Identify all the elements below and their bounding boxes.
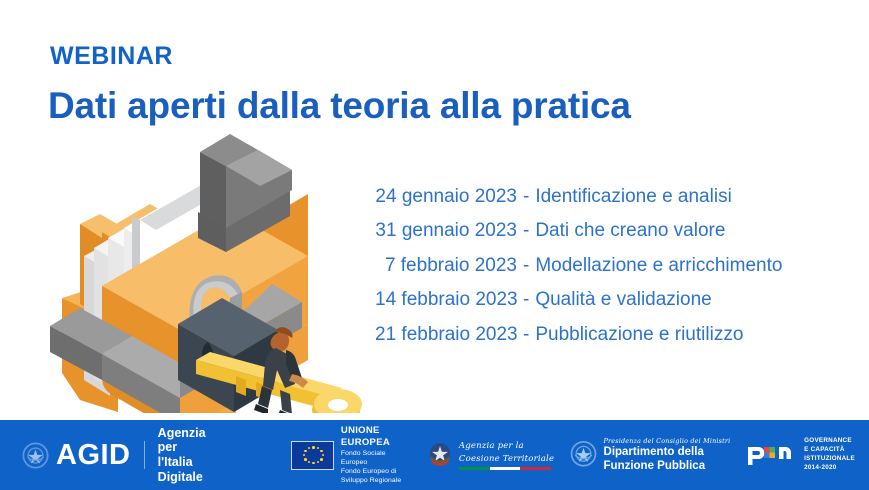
dfp-presidenza-line: Presidenza del Consiglio dei Ministri — [604, 437, 731, 445]
locked-folder-illustration — [40, 128, 370, 413]
dipartimento-funzione-pubblica-logo: Presidenza del Consiglio dei Ministri Di… — [569, 437, 731, 473]
session-separator: - — [517, 289, 535, 311]
coesione-line2: Coesione Territoriale — [459, 453, 554, 465]
agid-tagline-line2: l'Italia Digitale — [158, 455, 207, 485]
pon-line1: GOVERNANCE — [804, 437, 855, 446]
eu-line1: Fondo Sociale Europeo — [341, 449, 411, 467]
agid-tagline: Agenzia per l'Italia Digitale — [158, 426, 207, 485]
republic-emblem-icon — [569, 439, 598, 470]
footer-logo-bar: AGID Agenzia per l'Italia Digitale — [0, 420, 869, 490]
pon-line4: 2014-2020 — [804, 464, 855, 473]
eu-title: UNIONE EUROPEA — [341, 425, 411, 449]
agenzia-coesione-territoriale-logo: Agenzia per la Coesione Territoriale — [427, 440, 554, 469]
session-date: 24 gennaio 2023 — [375, 186, 517, 208]
pon-line2: E CAPACITÀ — [804, 446, 855, 455]
session-separator: - — [517, 255, 535, 277]
session-topic: Pubblicazione e riutilizzo — [535, 324, 743, 346]
session-topic: Modellazione e arricchimento — [535, 255, 782, 277]
pon-wordmark-icon — [746, 442, 798, 468]
eu-flag-icon — [291, 441, 334, 470]
session-date: 31 gennaio 2023 — [375, 220, 517, 242]
agid-divider — [144, 441, 145, 469]
pon-line3: ISTITUZIONALE — [804, 455, 855, 464]
dfp-line1: Dipartimento della — [604, 446, 731, 459]
european-union-logo: UNIONE EUROPEA Fondo Sociale Europeo Fon… — [291, 425, 411, 485]
session-date: 7 febbraio 2023 — [375, 255, 517, 277]
dfp-caption: Presidenza del Consiglio dei Ministri Di… — [604, 437, 731, 473]
agid-tagline-line1: Agenzia per — [158, 426, 207, 456]
list-item: 31 gennaio 2023 - Dati che creano valore — [375, 220, 782, 242]
list-item: 7 febbraio 2023 - Modellazione e arricch… — [375, 255, 782, 277]
agid-logo: AGID Agenzia per l'Italia Digitale — [22, 426, 206, 485]
dfp-line2: Funzione Pubblica — [604, 460, 731, 473]
session-topic: Qualità e validazione — [535, 289, 711, 311]
list-item: 21 febbraio 2023 - Pubblicazione e riuti… — [375, 324, 782, 346]
italy-emblem-icon — [427, 441, 453, 469]
session-date: 14 febbraio 2023 — [375, 289, 517, 311]
session-separator: - — [517, 220, 535, 242]
session-list: 24 gennaio 2023 - Identificazione e anal… — [375, 186, 782, 346]
italian-flag-rule — [459, 467, 551, 470]
session-date: 21 febbraio 2023 — [375, 324, 517, 346]
page-title: Dati aperti dalla teoria alla pratica — [48, 86, 631, 127]
session-separator: - — [517, 324, 535, 346]
webinar-poster: WEBINAR Dati aperti dalla teoria alla pr… — [0, 0, 869, 490]
pon-governance-logo: GOVERNANCE E CAPACITÀ ISTITUZIONALE 2014… — [746, 437, 855, 473]
session-separator: - — [517, 186, 535, 208]
list-item: 14 febbraio 2023 - Qualità e validazione — [375, 289, 782, 311]
eu-caption: UNIONE EUROPEA Fondo Sociale Europeo Fon… — [341, 425, 411, 485]
session-topic: Dati che creano valore — [535, 220, 725, 242]
eu-line2: Fondo Europeo di Sviluppo Regionale — [341, 467, 411, 485]
list-item: 24 gennaio 2023 - Identificazione e anal… — [375, 186, 782, 208]
agid-wordmark: AGID — [56, 441, 131, 470]
kicker-label: WEBINAR — [50, 44, 173, 69]
session-topic: Identificazione e analisi — [535, 186, 731, 208]
pon-caption: GOVERNANCE E CAPACITÀ ISTITUZIONALE 2014… — [804, 437, 855, 473]
republic-emblem-icon — [22, 442, 49, 469]
coesione-caption: Agenzia per la Coesione Territoriale — [459, 440, 554, 469]
coesione-line1: Agenzia per la — [459, 440, 554, 452]
